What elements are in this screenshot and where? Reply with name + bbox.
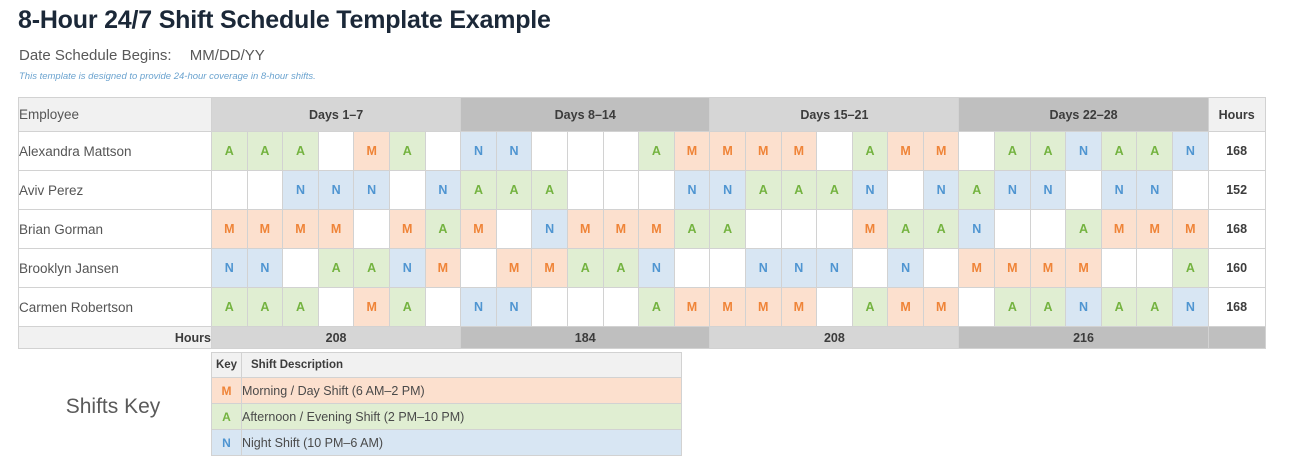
shift-cell-A[interactable]: A xyxy=(425,210,461,249)
shift-cell-empty[interactable] xyxy=(1137,249,1173,288)
employee-hours-total: 152 xyxy=(1208,171,1265,210)
employee-name[interactable]: Carmen Robertson xyxy=(19,288,212,327)
shift-cell-N[interactable]: N xyxy=(496,132,532,171)
shift-cell-A[interactable]: A xyxy=(283,132,319,171)
shift-cell-empty[interactable] xyxy=(923,249,959,288)
shift-cell-M[interactable]: M xyxy=(745,288,781,327)
total-week-4: 216 xyxy=(959,327,1208,349)
employee-hours-total: 160 xyxy=(1208,249,1265,288)
shift-cell-N[interactable]: N xyxy=(639,249,675,288)
key-row: NNight Shift (10 PM–6 AM) xyxy=(212,430,682,456)
shift-cell-empty[interactable] xyxy=(532,288,568,327)
shift-cell-A[interactable]: A xyxy=(1030,288,1066,327)
shift-schedule-table: Employee Days 1–7 Days 8–14 Days 15–21 D… xyxy=(18,97,1266,349)
template-note: This template is designed to provide 24-… xyxy=(19,71,316,82)
shift-cell-A[interactable]: A xyxy=(603,249,639,288)
shift-cell-M[interactable]: M xyxy=(710,132,746,171)
shift-cell-empty[interactable] xyxy=(995,210,1031,249)
shift-cell-empty[interactable] xyxy=(532,132,568,171)
shift-cell-empty[interactable] xyxy=(247,171,283,210)
shift-cell-empty[interactable] xyxy=(1173,171,1209,210)
shift-cell-N[interactable]: N xyxy=(1066,132,1102,171)
shift-cell-A[interactable]: A xyxy=(1173,249,1209,288)
shift-cell-A[interactable]: A xyxy=(247,288,283,327)
shift-cell-M[interactable]: M xyxy=(1066,249,1102,288)
employee-name[interactable]: Brian Gorman xyxy=(19,210,212,249)
table-row: Carmen RobertsonAAAMANNAMMMMAMMAANAAN168 xyxy=(19,288,1266,327)
shift-cell-M[interactable]: M xyxy=(496,249,532,288)
key-description: Afternoon / Evening Shift (2 PM–10 PM) xyxy=(242,404,682,430)
shift-cell-N[interactable]: N xyxy=(389,249,425,288)
shift-cell-empty[interactable] xyxy=(817,132,853,171)
shift-cell-empty[interactable] xyxy=(710,249,746,288)
shift-cell-N[interactable]: N xyxy=(852,171,888,210)
shift-cell-A[interactable]: A xyxy=(995,132,1031,171)
shift-cell-empty[interactable] xyxy=(1066,171,1102,210)
shift-cell-M[interactable]: M xyxy=(745,132,781,171)
shift-cell-M[interactable]: M xyxy=(603,210,639,249)
shift-cell-A[interactable]: A xyxy=(852,288,888,327)
shift-cell-M[interactable]: M xyxy=(959,249,995,288)
shift-cell-N[interactable]: N xyxy=(247,249,283,288)
key-code-N: N xyxy=(212,430,242,456)
shift-cell-A[interactable]: A xyxy=(318,249,354,288)
shift-cell-A[interactable]: A xyxy=(674,210,710,249)
employee-name[interactable]: Brooklyn Jansen xyxy=(19,249,212,288)
key-header-key: Key xyxy=(212,353,242,378)
shift-cell-M[interactable]: M xyxy=(923,132,959,171)
shift-cell-N[interactable]: N xyxy=(532,210,568,249)
shifts-key-label: Shifts Key xyxy=(18,395,208,419)
shift-cell-A[interactable]: A xyxy=(461,171,497,210)
shift-cell-empty[interactable] xyxy=(603,132,639,171)
shift-cell-M[interactable]: M xyxy=(1101,210,1137,249)
header-week-4: Days 22–28 xyxy=(959,98,1208,132)
shift-cell-A[interactable]: A xyxy=(389,132,425,171)
shift-cell-M[interactable]: M xyxy=(1137,210,1173,249)
shift-cell-empty[interactable] xyxy=(212,171,248,210)
table-row: Brooklyn JansenNNAANMMMAANNNNNMMMMA160 xyxy=(19,249,1266,288)
shift-cell-A[interactable]: A xyxy=(1101,132,1137,171)
shift-cell-empty[interactable] xyxy=(425,132,461,171)
shift-cell-A[interactable]: A xyxy=(852,132,888,171)
shift-cell-A[interactable]: A xyxy=(923,210,959,249)
shift-cell-M[interactable]: M xyxy=(389,210,425,249)
table-header-row: Employee Days 1–7 Days 8–14 Days 15–21 D… xyxy=(19,98,1266,132)
shift-cell-A[interactable]: A xyxy=(212,132,248,171)
totals-label: Hours xyxy=(19,327,212,349)
shift-cell-A[interactable]: A xyxy=(354,249,390,288)
employee-name[interactable]: Aviv Perez xyxy=(19,171,212,210)
shift-cell-M[interactable]: M xyxy=(425,249,461,288)
shift-cell-empty[interactable] xyxy=(567,171,603,210)
shift-cell-empty[interactable] xyxy=(603,288,639,327)
employee-hours-total: 168 xyxy=(1208,210,1265,249)
shift-cell-empty[interactable] xyxy=(1101,249,1137,288)
shift-cell-M[interactable]: M xyxy=(852,210,888,249)
key-code-M: M xyxy=(212,378,242,404)
totals-hours-blank xyxy=(1208,327,1265,349)
shift-cell-N[interactable]: N xyxy=(995,171,1031,210)
header-week-3: Days 15–21 xyxy=(710,98,959,132)
total-week-3: 208 xyxy=(710,327,959,349)
shift-cell-M[interactable]: M xyxy=(212,210,248,249)
shift-cell-A[interactable]: A xyxy=(995,288,1031,327)
shift-cell-N[interactable]: N xyxy=(283,171,319,210)
key-description: Night Shift (10 PM–6 AM) xyxy=(242,430,682,456)
shift-cell-A[interactable]: A xyxy=(710,210,746,249)
header-week-2: Days 8–14 xyxy=(461,98,710,132)
shift-cell-empty[interactable] xyxy=(674,249,710,288)
shift-cell-A[interactable]: A xyxy=(639,132,675,171)
shift-cell-empty[interactable] xyxy=(389,171,425,210)
shift-cell-N[interactable]: N xyxy=(1137,171,1173,210)
shift-cell-A[interactable]: A xyxy=(283,288,319,327)
shift-cell-empty[interactable] xyxy=(888,171,924,210)
shift-cell-M[interactable]: M xyxy=(888,132,924,171)
shift-cell-empty[interactable] xyxy=(318,288,354,327)
shift-cell-A[interactable]: A xyxy=(745,171,781,210)
shift-cell-N[interactable]: N xyxy=(959,210,995,249)
shift-cell-empty[interactable] xyxy=(318,132,354,171)
table-row: Aviv PerezNNNNAAANNAAANNANNNN152 xyxy=(19,171,1266,210)
shift-cell-N[interactable]: N xyxy=(1173,132,1209,171)
shift-cell-M[interactable]: M xyxy=(318,210,354,249)
key-row: MMorning / Day Shift (6 AM–2 PM) xyxy=(212,378,682,404)
key-code-A: A xyxy=(212,404,242,430)
shift-cell-N[interactable]: N xyxy=(888,249,924,288)
shift-cell-M[interactable]: M xyxy=(354,132,390,171)
shift-cell-M[interactable]: M xyxy=(532,249,568,288)
shift-cell-empty[interactable] xyxy=(461,249,497,288)
shift-cell-empty[interactable] xyxy=(496,210,532,249)
shift-cell-A[interactable]: A xyxy=(1101,288,1137,327)
shift-cell-N[interactable]: N xyxy=(1066,288,1102,327)
date-begins-row: Date Schedule Begins: MM/DD/YY xyxy=(19,47,265,64)
shift-cell-A[interactable]: A xyxy=(389,288,425,327)
shift-cell-N[interactable]: N xyxy=(461,288,497,327)
shift-cell-A[interactable]: A xyxy=(532,171,568,210)
shift-cell-N[interactable]: N xyxy=(1030,171,1066,210)
table-row: Alexandra MattsonAAAMANNAMMMMAMMAANAAN16… xyxy=(19,132,1266,171)
shift-cell-A[interactable]: A xyxy=(1137,288,1173,327)
date-begins-label: Date Schedule Begins: xyxy=(19,47,172,64)
header-week-1: Days 1–7 xyxy=(212,98,461,132)
shift-cell-A[interactable]: A xyxy=(1030,132,1066,171)
key-row: AAfternoon / Evening Shift (2 PM–10 PM) xyxy=(212,404,682,430)
shift-cell-A[interactable]: A xyxy=(888,210,924,249)
shift-cell-M[interactable]: M xyxy=(1030,249,1066,288)
total-week-1: 208 xyxy=(212,327,461,349)
header-employee: Employee xyxy=(19,98,212,132)
shift-cell-N[interactable]: N xyxy=(1173,288,1209,327)
shift-cell-M[interactable]: M xyxy=(461,210,497,249)
employee-hours-total: 168 xyxy=(1208,132,1265,171)
shift-cell-N[interactable]: N xyxy=(496,288,532,327)
shift-cell-A[interactable]: A xyxy=(212,288,248,327)
shift-cell-A[interactable]: A xyxy=(781,171,817,210)
shift-cell-empty[interactable] xyxy=(817,210,853,249)
shift-cell-A[interactable]: A xyxy=(247,132,283,171)
shift-cell-N[interactable]: N xyxy=(710,171,746,210)
shift-cell-empty[interactable] xyxy=(959,288,995,327)
shift-cell-M[interactable]: M xyxy=(781,132,817,171)
shift-cell-M[interactable]: M xyxy=(567,210,603,249)
shift-cell-A[interactable]: A xyxy=(817,171,853,210)
shift-cell-M[interactable]: M xyxy=(674,288,710,327)
date-begins-value[interactable]: MM/DD/YY xyxy=(190,47,265,64)
employee-hours-total: 168 xyxy=(1208,288,1265,327)
shift-cell-N[interactable]: N xyxy=(1101,171,1137,210)
shift-cell-N[interactable]: N xyxy=(212,249,248,288)
shift-cell-empty[interactable] xyxy=(425,288,461,327)
shift-cell-M[interactable]: M xyxy=(781,288,817,327)
shift-cell-empty[interactable] xyxy=(567,288,603,327)
shift-cell-M[interactable]: M xyxy=(283,210,319,249)
shift-cell-A[interactable]: A xyxy=(1137,132,1173,171)
shift-cell-M[interactable]: M xyxy=(354,288,390,327)
total-week-2: 184 xyxy=(461,327,710,349)
page-title: 8-Hour 24/7 Shift Schedule Template Exam… xyxy=(18,6,551,35)
shift-cell-M[interactable]: M xyxy=(1173,210,1209,249)
shift-cell-A[interactable]: A xyxy=(496,171,532,210)
shift-cell-M[interactable]: M xyxy=(995,249,1031,288)
shifts-key-table: Key Shift Description MMorning / Day Shi… xyxy=(211,352,682,456)
key-description: Morning / Day Shift (6 AM–2 PM) xyxy=(242,378,682,404)
shift-cell-empty[interactable] xyxy=(1030,210,1066,249)
shift-cell-empty[interactable] xyxy=(567,132,603,171)
header-hours: Hours xyxy=(1208,98,1265,132)
shift-cell-empty[interactable] xyxy=(817,288,853,327)
shift-cell-M[interactable]: M xyxy=(247,210,283,249)
shift-cell-N[interactable]: N xyxy=(674,171,710,210)
shift-cell-M[interactable]: M xyxy=(639,210,675,249)
shift-cell-M[interactable]: M xyxy=(674,132,710,171)
shift-cell-N[interactable]: N xyxy=(425,171,461,210)
shift-cell-empty[interactable] xyxy=(639,171,675,210)
shift-cell-N[interactable]: N xyxy=(817,249,853,288)
shift-cell-M[interactable]: M xyxy=(710,288,746,327)
shift-cell-empty[interactable] xyxy=(959,132,995,171)
employee-name[interactable]: Alexandra Mattson xyxy=(19,132,212,171)
shift-cell-N[interactable]: N xyxy=(781,249,817,288)
shift-cell-N[interactable]: N xyxy=(318,171,354,210)
shift-cell-empty[interactable] xyxy=(354,210,390,249)
shift-cell-A[interactable]: A xyxy=(959,171,995,210)
schedule-page: 8-Hour 24/7 Shift Schedule Template Exam… xyxy=(0,0,1300,471)
shift-cell-A[interactable]: A xyxy=(1066,210,1102,249)
shift-cell-N[interactable]: N xyxy=(354,171,390,210)
table-row: Brian GormanMMMMMAMNMMMAAMAANAMMM168 xyxy=(19,210,1266,249)
shift-cell-empty[interactable] xyxy=(603,171,639,210)
shift-cell-M[interactable]: M xyxy=(923,288,959,327)
key-header-description: Shift Description xyxy=(242,353,682,378)
shift-cell-M[interactable]: M xyxy=(888,288,924,327)
shift-cell-N[interactable]: N xyxy=(461,132,497,171)
shift-cell-empty[interactable] xyxy=(283,249,319,288)
totals-row: Hours 208 184 208 216 xyxy=(19,327,1266,349)
key-header-row: Key Shift Description xyxy=(212,353,682,378)
shift-cell-A[interactable]: A xyxy=(567,249,603,288)
shift-cell-empty[interactable] xyxy=(781,210,817,249)
shift-cell-A[interactable]: A xyxy=(639,288,675,327)
shift-cell-N[interactable]: N xyxy=(923,171,959,210)
shift-cell-empty[interactable] xyxy=(745,210,781,249)
shift-cell-empty[interactable] xyxy=(852,249,888,288)
shift-cell-N[interactable]: N xyxy=(745,249,781,288)
